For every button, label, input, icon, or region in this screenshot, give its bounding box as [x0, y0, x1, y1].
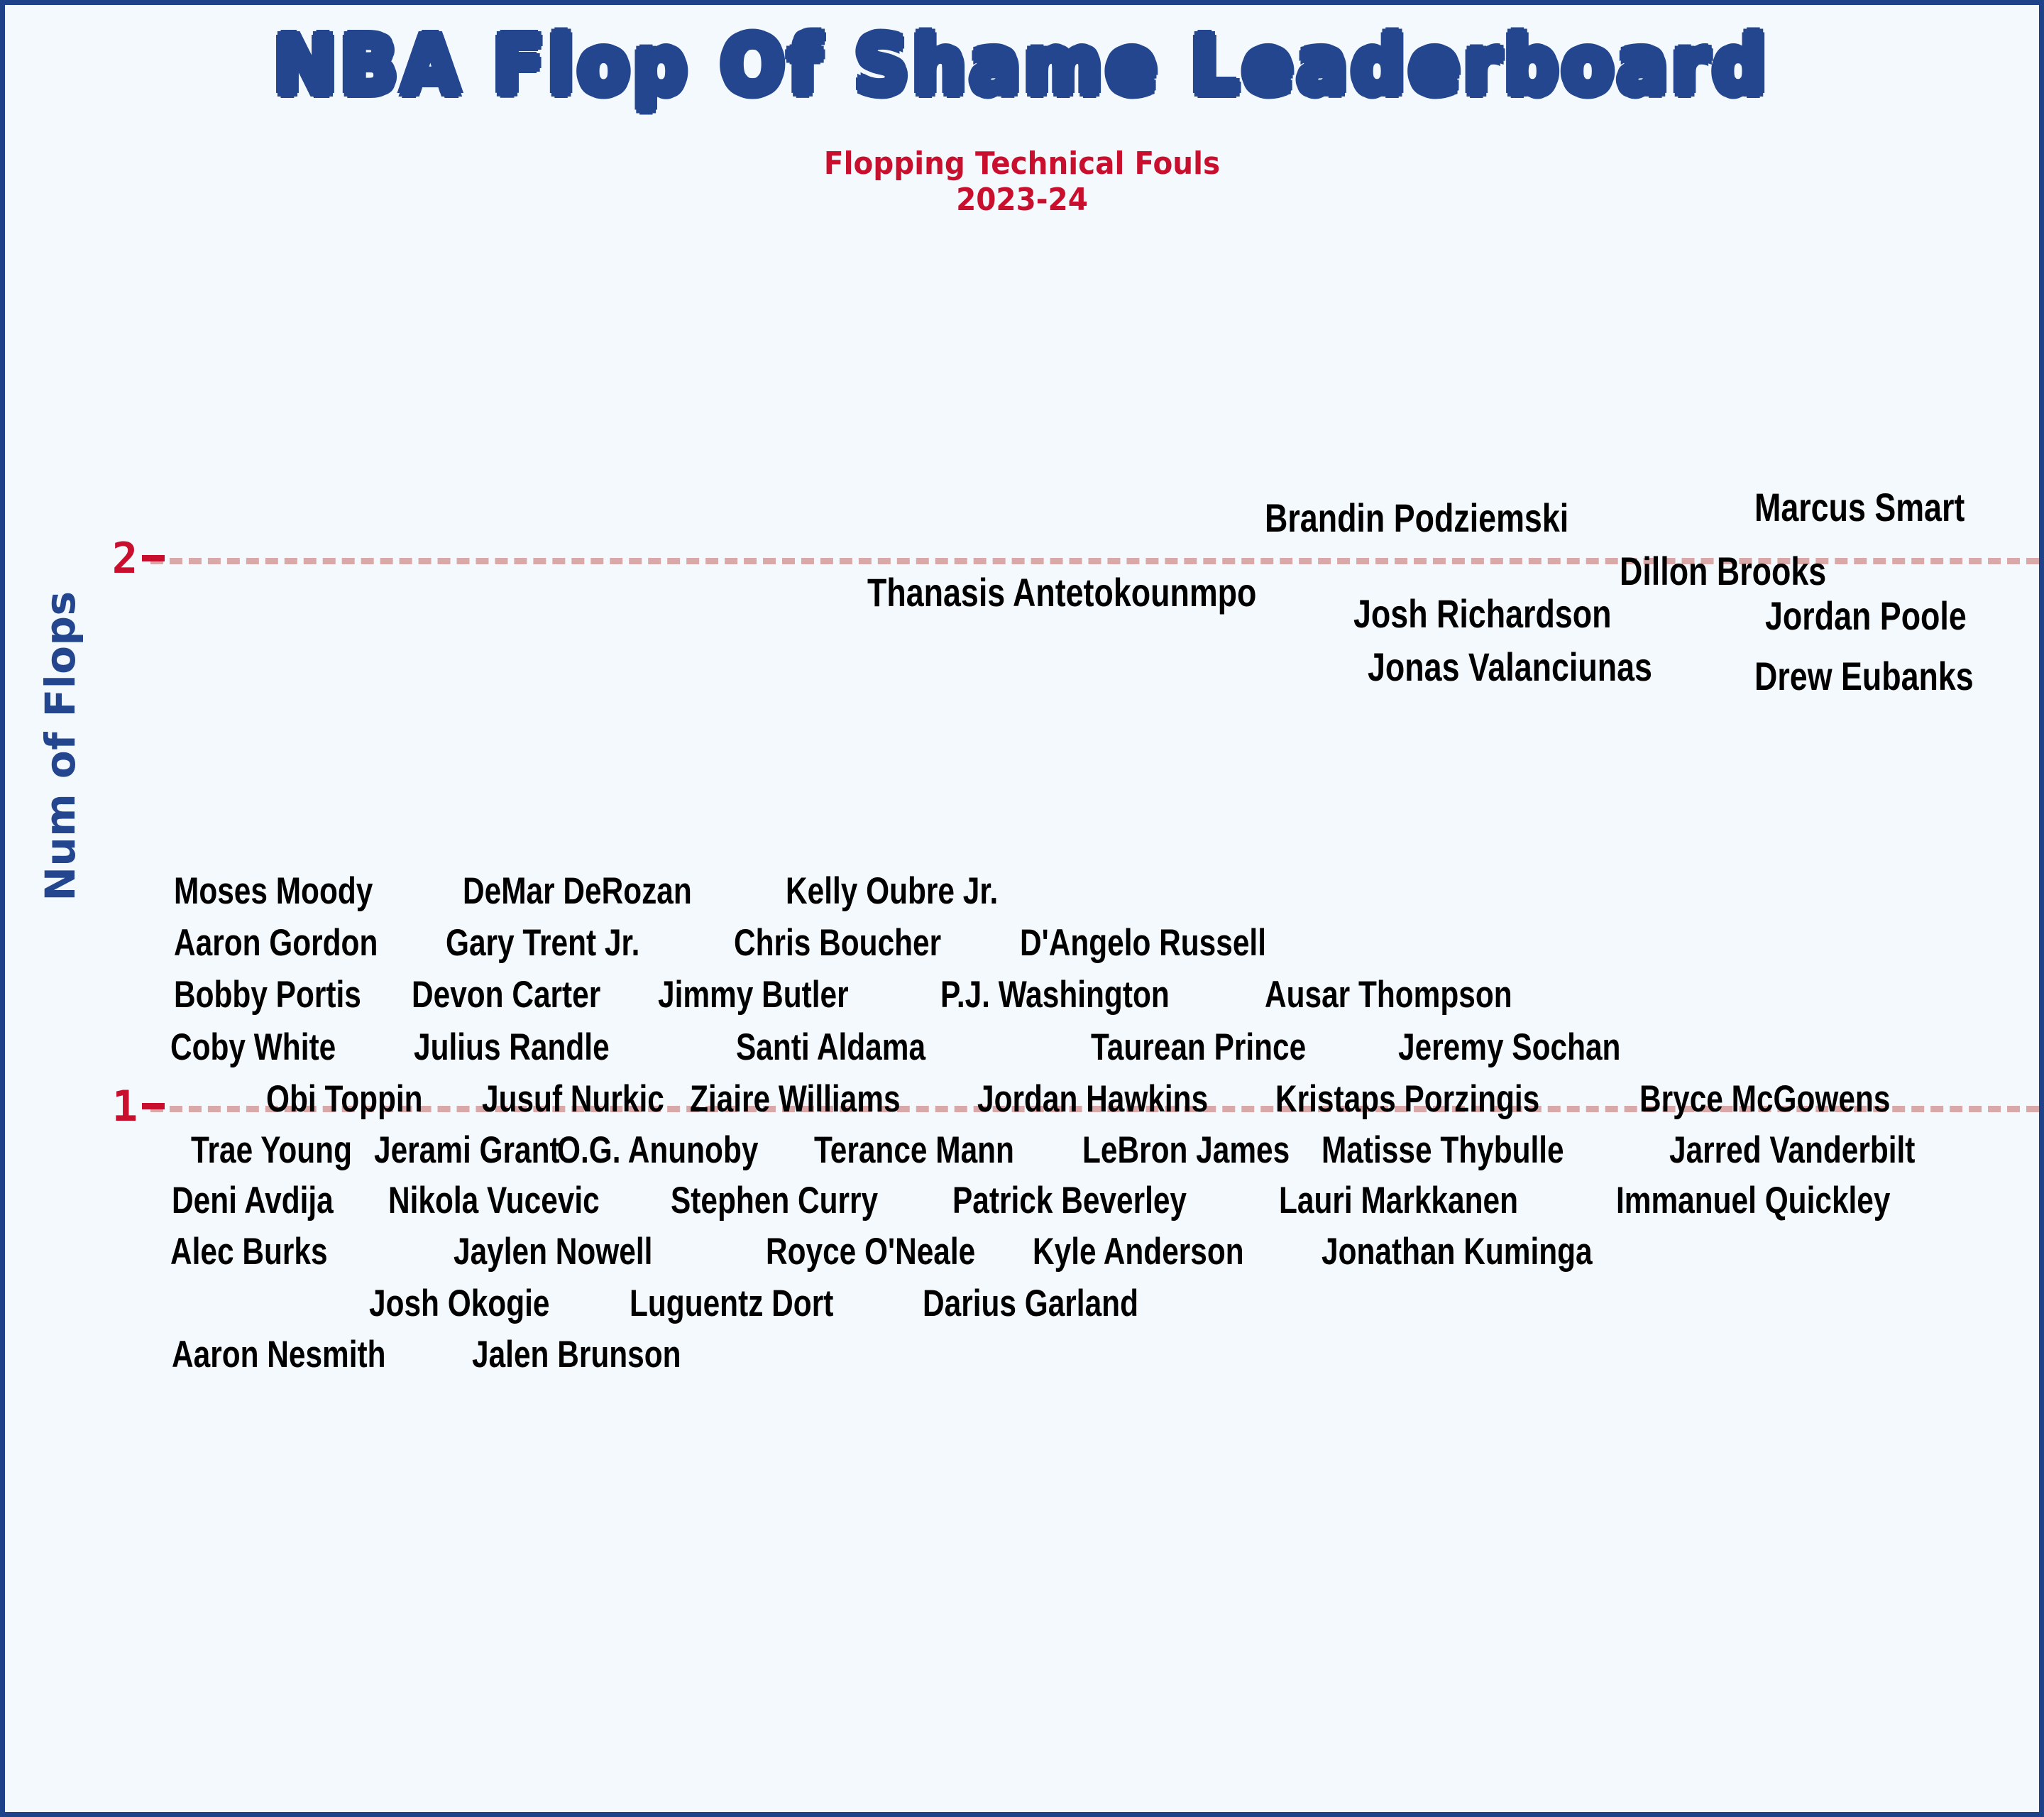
- player-label: Bryce McGowens: [1639, 1080, 1890, 1118]
- player-label: Brandin Podziemski: [1265, 498, 1568, 538]
- player-label: Jeremy Sochan: [1398, 1028, 1620, 1066]
- player-label: Jimmy Butler: [658, 976, 849, 1014]
- player-label: Jordan Poole: [1765, 596, 1967, 636]
- player-label: Jonas Valanciunas: [1368, 647, 1652, 687]
- player-label: Jusuf Nurkic: [482, 1080, 664, 1118]
- player-label: Terance Mann: [814, 1131, 1014, 1169]
- player-label: Devon Carter: [412, 976, 600, 1014]
- player-label: Gary Trent Jr.: [446, 924, 639, 962]
- tick-mark-2: [142, 555, 165, 561]
- player-label: Royce O'Neale: [766, 1233, 975, 1270]
- y-axis-title: Num of Flops: [36, 569, 84, 923]
- player-label: Nikola Vucevic: [388, 1182, 600, 1219]
- player-label: DeMar DeRozan: [463, 872, 692, 910]
- player-label: O.G. Anunoby: [557, 1131, 758, 1169]
- page-title: NBA Flop Of Shame Leaderboard: [66, 25, 1978, 109]
- player-label: Ausar Thompson: [1265, 976, 1512, 1014]
- player-label: D'Angelo Russell: [1020, 924, 1266, 962]
- player-label: Jaylen Nowell: [454, 1233, 652, 1270]
- player-label: Obi Toppin: [266, 1080, 423, 1118]
- y-tick-label-2: 2: [58, 534, 136, 583]
- player-label: P.J. Washington: [940, 976, 1170, 1014]
- player-label: Darius Garland: [923, 1285, 1138, 1322]
- player-label: Chris Boucher: [734, 924, 941, 962]
- player-label: Immanuel Quickley: [1616, 1182, 1890, 1219]
- player-label: Jonathan Kuminga: [1322, 1233, 1593, 1270]
- player-label: Kyle Anderson: [1033, 1233, 1244, 1270]
- player-label: Ziaire Williams: [690, 1080, 901, 1118]
- player-label: Aaron Nesmith: [172, 1336, 386, 1373]
- chart-subtitle: Flopping Technical Fouls 2023-24: [87, 146, 1958, 219]
- player-label: Stephen Curry: [671, 1182, 878, 1219]
- player-label: Alec Burks: [170, 1233, 328, 1270]
- player-label: Bobby Portis: [174, 976, 361, 1014]
- player-label: Trae Young: [191, 1131, 352, 1169]
- player-label: Jordan Hawkins: [977, 1080, 1208, 1118]
- player-label: Jerami Grant: [374, 1131, 560, 1169]
- player-label: Moses Moody: [174, 872, 373, 910]
- player-label: Patrick Beverley: [952, 1182, 1187, 1219]
- player-label: Kelly Oubre Jr.: [786, 872, 998, 910]
- player-label: Taurean Prince: [1091, 1028, 1306, 1066]
- player-label: Santi Aldama: [736, 1028, 925, 1066]
- player-label: Dillon Brooks: [1620, 551, 1826, 591]
- tick-mark-1: [142, 1103, 165, 1109]
- player-label: Josh Okogie: [369, 1285, 549, 1322]
- player-label: Josh Richardson: [1353, 594, 1611, 634]
- player-label: Aaron Gordon: [174, 924, 378, 962]
- chart-canvas: NBA Flop Of Shame Leaderboard Flopping T…: [0, 0, 2044, 1817]
- player-label: Luguentz Dort: [630, 1285, 833, 1322]
- player-label: Jarred Vanderbilt: [1669, 1131, 1915, 1169]
- player-label: Jalen Brunson: [472, 1336, 681, 1373]
- player-label: Kristaps Porzingis: [1275, 1080, 1539, 1118]
- player-label: Thanasis Antetokounmpo: [867, 573, 1256, 613]
- player-label: Marcus Smart: [1754, 488, 1965, 527]
- y-tick-label-1: 1: [58, 1082, 136, 1131]
- player-label: Deni Avdija: [172, 1182, 334, 1219]
- player-label: LeBron James: [1082, 1131, 1290, 1169]
- player-label: Drew Eubanks: [1754, 657, 1974, 696]
- player-label: Coby White: [170, 1028, 336, 1066]
- player-label: Julius Randle: [414, 1028, 610, 1066]
- player-label: Matisse Thybulle: [1322, 1131, 1564, 1169]
- player-label: Lauri Markkanen: [1279, 1182, 1518, 1219]
